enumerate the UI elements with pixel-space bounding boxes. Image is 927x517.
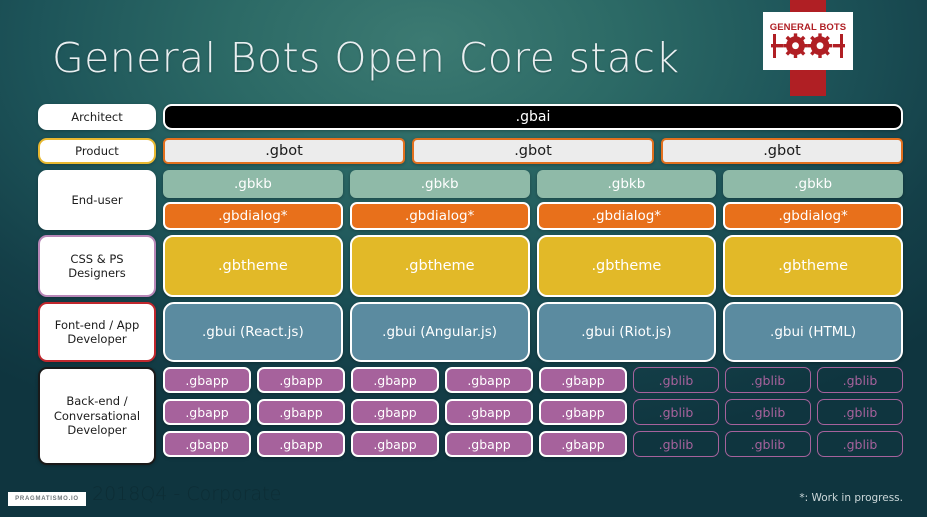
role-label-0: Architect <box>38 104 156 130</box>
stack-cell-gbui-angular-js: .gbui (Angular.js) <box>350 302 530 362</box>
stack-cell-gbapp: .gbapp <box>539 367 627 393</box>
gbapp-gblib-grid-row-2: .gbapp.gbapp.gbapp.gbapp.gbapp.gblib.gbl… <box>163 431 903 457</box>
footnote-work-in-progress: *: Work in progress. <box>799 492 903 504</box>
slide-header: General Bots Open Core stack GENERAL BOT… <box>0 0 927 96</box>
stack-cell-gbdialog: .gbdialog* <box>350 202 530 230</box>
stack-cell-gbapp: .gbapp <box>257 367 345 393</box>
stack-cell-gbtheme: .gbtheme <box>350 235 530 297</box>
stack-cell-gbapp: .gbapp <box>257 431 345 457</box>
stack-cell-gblib: .gblib <box>817 431 903 457</box>
gbai-row: .gbai <box>163 104 903 130</box>
stack-cell-gbapp: .gbapp <box>539 399 627 425</box>
stack-cell-gbtheme: .gbtheme <box>723 235 903 297</box>
stack-cell-gblib: .gblib <box>817 367 903 393</box>
stack-cell-gbdialog: .gbdialog* <box>723 202 903 230</box>
stack-cell-gbapp: .gbapp <box>351 431 439 457</box>
role-label-4: Font-end / App Developer <box>38 302 156 362</box>
gbdialog-row: .gbdialog*.gbdialog*.gbdialog*.gbdialog* <box>163 202 903 230</box>
general-bots-logo: GENERAL BOTS <box>763 12 853 70</box>
pragmatismo-badge: PRAGMATISMO.IO <box>8 492 86 506</box>
stack-cell-gblib: .gblib <box>725 367 811 393</box>
logo-wordmark: GENERAL BOTS <box>770 23 847 33</box>
gbapp-gblib-grid-row-1: .gbapp.gbapp.gbapp.gbapp.gbapp.gblib.gbl… <box>163 399 903 425</box>
stack-cell-gbot: .gbot <box>163 138 405 164</box>
stack-cell-gbapp: .gbapp <box>351 367 439 393</box>
stack-cell-gbtheme: .gbtheme <box>537 235 717 297</box>
role-label-2: End-user <box>38 170 156 230</box>
stack-cell-gbapp: .gbapp <box>445 399 533 425</box>
footer-label: 2018Q4 - Corporate <box>92 483 281 505</box>
role-label-1: Product <box>38 138 156 164</box>
stack-cell-gbui-react-js: .gbui (React.js) <box>163 302 343 362</box>
stack-cell-gbapp: .gbapp <box>445 431 533 457</box>
stack-cell-gbot: .gbot <box>661 138 903 164</box>
role-label-5: Back-end / Conversational Developer <box>38 367 156 465</box>
stack-cell-gblib: .gblib <box>633 399 719 425</box>
page-title: General Bots Open Core stack <box>52 34 680 82</box>
slide-canvas: General Bots Open Core stack GENERAL BOT… <box>0 0 927 517</box>
stack-cell-gbkb: .gbkb <box>163 170 343 198</box>
gbkb-row: .gbkb.gbkb.gbkb.gbkb <box>163 170 903 198</box>
gbapp-gblib-grid-row-0: .gbapp.gbapp.gbapp.gbapp.gbapp.gblib.gbl… <box>163 367 903 393</box>
stack-cell-gbapp: .gbapp <box>539 431 627 457</box>
stack-cell-gbapp: .gbapp <box>445 367 533 393</box>
stack-cell-gblib: .gblib <box>633 431 719 457</box>
stack-cell-gbtheme: .gbtheme <box>163 235 343 297</box>
stack-cell-gbui-riot-js: .gbui (Riot.js) <box>537 302 717 362</box>
stack-cell-gblib: .gblib <box>725 431 811 457</box>
stack-cell-gbkb: .gbkb <box>723 170 903 198</box>
stack-cell-gbdialog: .gbdialog* <box>163 202 343 230</box>
stack-cell-gblib: .gblib <box>817 399 903 425</box>
role-label-3: CSS & PS Designers <box>38 235 156 297</box>
stack-cell-gbot: .gbot <box>412 138 654 164</box>
stack-cell-gblib: .gblib <box>725 399 811 425</box>
stack-cell-gbapp: .gbapp <box>163 431 251 457</box>
pragmatismo-badge-text: PRAGMATISMO.IO <box>15 496 79 502</box>
stack-cell-gbkb: .gbkb <box>350 170 530 198</box>
stack-cell-gbui-html: .gbui (HTML) <box>723 302 903 362</box>
stack-cell-gbdialog: .gbdialog* <box>537 202 717 230</box>
two-gears-between-bars-icon <box>771 33 845 59</box>
stack-cell-gbkb: .gbkb <box>537 170 717 198</box>
stack-cell-gbapp: .gbapp <box>351 399 439 425</box>
gbtheme-row: .gbtheme.gbtheme.gbtheme.gbtheme <box>163 235 903 297</box>
gbot-row: .gbot.gbot.gbot <box>163 138 903 164</box>
stack-diagram: ArchitectProductEnd-userCSS & PS Designe… <box>0 96 927 481</box>
slide-footer: PRAGMATISMO.IO 2018Q4 - Corporate *: Wor… <box>0 481 927 517</box>
stack-cell-gbapp: .gbapp <box>163 399 251 425</box>
gbui-row: .gbui (React.js).gbui (Angular.js).gbui … <box>163 302 903 362</box>
stack-cell-gbapp: .gbapp <box>163 367 251 393</box>
stack-cell-gblib: .gblib <box>633 367 719 393</box>
stack-cell-gbai: .gbai <box>163 104 903 130</box>
stack-cell-gbapp: .gbapp <box>257 399 345 425</box>
